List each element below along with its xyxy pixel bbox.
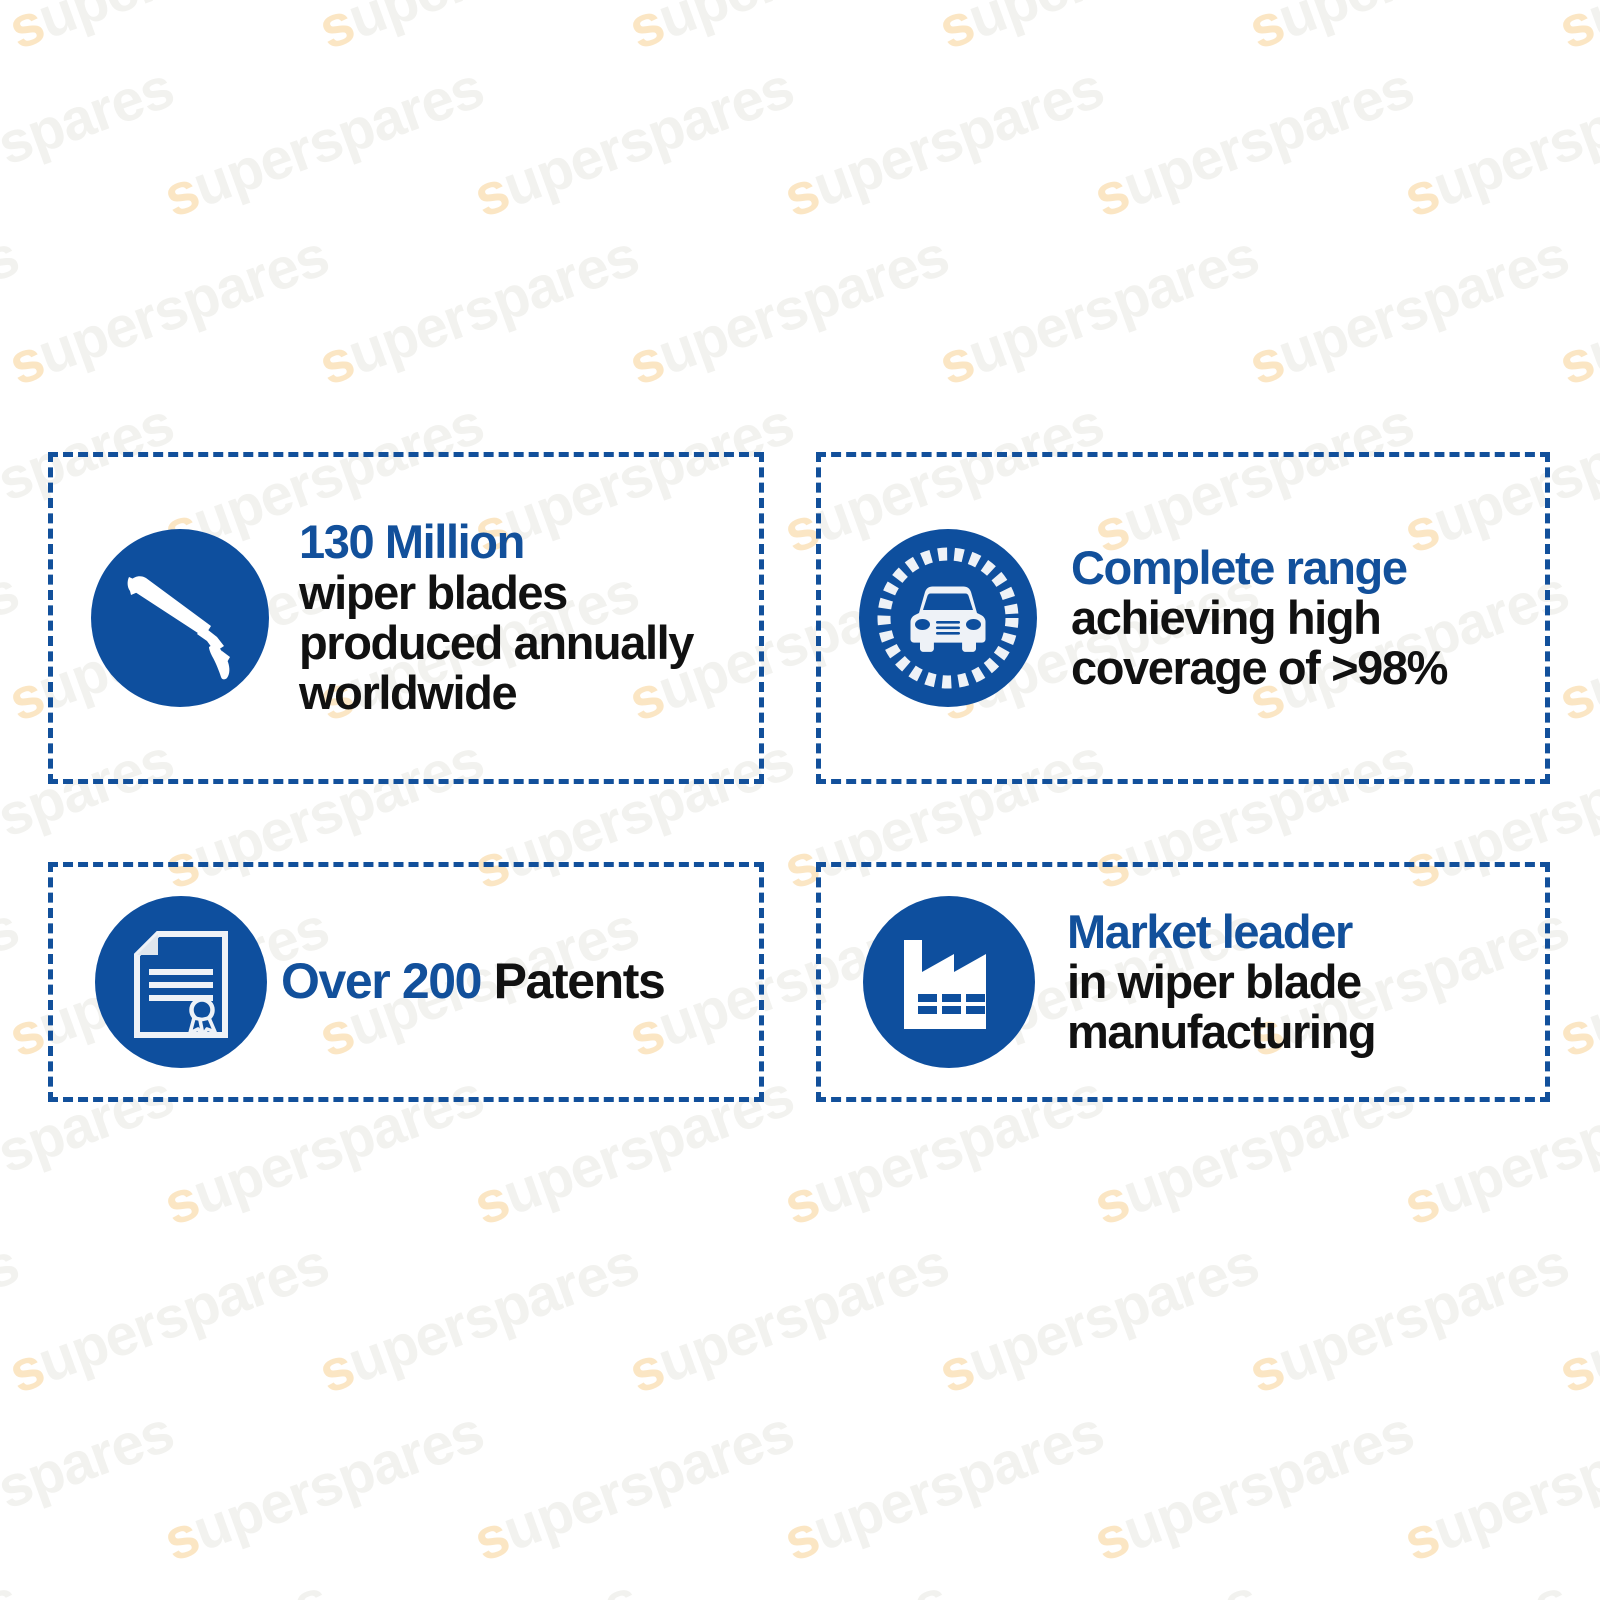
watermark-accent-letter: s — [0, 662, 52, 734]
fact-card-2-line-3: coverage of >98% — [1071, 643, 1545, 693]
watermark-text: superspares — [930, 0, 1267, 63]
watermark-rest: uperspares — [1425, 55, 1600, 220]
watermark-text: superspares — [620, 0, 957, 63]
watermark-rest: uperspares — [1580, 559, 1600, 724]
watermark-accent-letter: s — [1085, 1502, 1137, 1574]
watermark-text: superspares — [0, 1230, 337, 1407]
watermark-rest: uperspares — [960, 1567, 1267, 1600]
watermark-text: superspares — [465, 54, 802, 231]
watermark-text: superspares — [0, 0, 27, 63]
watermark-accent-letter: s — [0, 326, 52, 398]
watermark-rest: uperspares — [340, 1567, 647, 1600]
fact-card-4-line-3: manufacturing — [1067, 1007, 1545, 1057]
watermark-rest: uperspares — [0, 55, 181, 220]
watermark-text: superspares — [1550, 0, 1600, 63]
fact-card-2-line-1: Complete range — [1071, 543, 1545, 593]
watermark-text: superspares — [0, 1230, 27, 1407]
fact-card-1-line-4: worldwide — [299, 668, 759, 718]
watermark-text: superspares — [310, 222, 647, 399]
fact-card-wiper-production: 130 Million wiper blades produced annual… — [48, 452, 764, 784]
watermark-text: superspares — [0, 1398, 182, 1575]
factory-icon — [863, 896, 1035, 1068]
watermark-rest: uperspares — [495, 1399, 802, 1564]
fact-card-3-line-1: Over 200 Patents — [281, 955, 759, 1009]
watermark-accent-letter: s — [155, 1166, 207, 1238]
watermark-accent-letter: s — [0, 998, 52, 1070]
watermark-accent-letter: s — [310, 326, 362, 398]
watermark-text: superspares — [1550, 894, 1600, 1071]
watermark-text: superspares — [1240, 1230, 1577, 1407]
watermark-rest: uperspares — [340, 0, 647, 51]
fact-card-4-line-2: in wiper blade — [1067, 957, 1545, 1007]
watermark-rest: uperspares — [0, 559, 26, 724]
watermark-rest: uperspares — [1115, 55, 1422, 220]
watermark-rest: uperspares — [1580, 895, 1600, 1060]
fact-card-1-text: 130 Million wiper blades produced annual… — [285, 517, 759, 718]
watermark-accent-letter: s — [930, 0, 982, 62]
watermark-text: superspares — [930, 1230, 1267, 1407]
watermark-rest: uperspares — [650, 223, 957, 388]
watermark-text: superspares — [0, 1566, 337, 1600]
watermark-rest: uperspares — [0, 1399, 181, 1564]
fact-card-1-line-1: 130 Million — [299, 517, 759, 567]
watermark-text: superspares — [0, 0, 337, 63]
watermark-accent-letter: s — [310, 0, 362, 62]
wiper-blade-icon-wrap — [75, 529, 285, 707]
fact-card-coverage: Complete range achieving high coverage o… — [816, 452, 1550, 784]
watermark-rest: uperspares — [1580, 1567, 1600, 1600]
fact-card-3-text: Over 200 Patents — [281, 955, 759, 1009]
watermark-text: superspares — [775, 54, 1112, 231]
watermark-accent-letter: s — [465, 1502, 517, 1574]
car-in-dashed-ring-icon — [859, 529, 1037, 707]
fact-card-4-line-1: Market leader — [1067, 907, 1545, 957]
watermark-rest: uperspares — [0, 1567, 26, 1600]
watermark-text: superspares — [930, 222, 1267, 399]
watermark-accent-letter: s — [1240, 326, 1292, 398]
watermark-text: superspares — [1550, 1566, 1600, 1600]
watermark-accent-letter: s — [1395, 1502, 1447, 1574]
fact-card-market-leader: Market leader in wiper blade manufacturi… — [816, 862, 1550, 1102]
watermark-rest: uperspares — [1270, 1231, 1577, 1396]
watermark-rest: uperspares — [960, 223, 1267, 388]
watermark-rest: uperspares — [0, 0, 26, 51]
watermark-accent-letter: s — [1550, 0, 1600, 62]
watermark-accent-letter: s — [1240, 1334, 1292, 1406]
patents-label: Patents — [481, 953, 664, 1009]
watermark-text: superspares — [0, 558, 27, 735]
watermark-text: superspares — [1240, 222, 1577, 399]
wiper-blade-icon — [91, 529, 269, 707]
watermark-text: superspares — [930, 1566, 1267, 1600]
watermark-text: superspares — [310, 1230, 647, 1407]
watermark-text: superspares — [155, 1398, 492, 1575]
watermark-rest: uperspares — [1270, 223, 1577, 388]
watermark-accent-letter: s — [0, 0, 52, 62]
watermark-rest: uperspares — [1270, 1567, 1577, 1600]
watermark-text: superspares — [0, 1566, 27, 1600]
watermark-text: superspares — [1550, 1230, 1600, 1407]
watermark-rest: uperspares — [30, 223, 337, 388]
watermark-accent-letter: s — [1395, 1166, 1447, 1238]
watermark-accent-letter: s — [1550, 1334, 1600, 1406]
watermark-rest: uperspares — [650, 0, 957, 51]
watermark-accent-letter: s — [620, 326, 672, 398]
watermark-accent-letter: s — [0, 1334, 52, 1406]
watermark-rest: uperspares — [650, 1231, 957, 1396]
watermark-text: superspares — [1395, 1398, 1600, 1575]
watermark-text: superspares — [155, 54, 492, 231]
watermark-rest: uperspares — [1270, 0, 1577, 51]
factory-icon-wrap — [849, 896, 1049, 1068]
watermark-accent-letter: s — [465, 1166, 517, 1238]
watermark-rest: uperspares — [495, 55, 802, 220]
watermark-rest: uperspares — [960, 1231, 1267, 1396]
watermark-text: superspares — [0, 894, 27, 1071]
watermark-text: superspares — [1085, 54, 1422, 231]
watermark-accent-letter: s — [310, 1334, 362, 1406]
watermark-rest: uperspares — [1580, 0, 1600, 51]
watermark-rest: uperspares — [960, 0, 1267, 51]
watermark-accent-letter: s — [1240, 0, 1292, 62]
certificate-document-icon — [95, 896, 267, 1068]
watermark-accent-letter: s — [930, 1334, 982, 1406]
watermark-text: superspares — [465, 1398, 802, 1575]
fact-card-1-line-3: produced annually — [299, 618, 759, 668]
watermark-rest: uperspares — [0, 895, 26, 1060]
fact-card-4-text: Market leader in wiper blade manufacturi… — [1049, 907, 1545, 1058]
watermark-rest: uperspares — [340, 223, 647, 388]
watermark-accent-letter: s — [155, 158, 207, 230]
car-icon-wrap — [843, 529, 1053, 707]
watermark-rest: uperspares — [0, 1231, 26, 1396]
watermark-text: superspares — [620, 222, 957, 399]
watermark-accent-letter: s — [1550, 326, 1600, 398]
infographic-canvas: supersparessupersparessupersparessupersp… — [0, 0, 1600, 1600]
watermark-accent-letter: s — [1085, 158, 1137, 230]
watermark-rest: uperspares — [185, 1399, 492, 1564]
watermark-accent-letter: s — [465, 158, 517, 230]
watermark-accent-letter: s — [155, 1502, 207, 1574]
fact-card-1-line-2: wiper blades — [299, 568, 759, 618]
watermark-text: superspares — [1085, 1398, 1422, 1575]
watermark-rest: uperspares — [1425, 1399, 1600, 1564]
watermark-layer: supersparessupersparessupersparessupersp… — [0, 0, 1600, 1600]
watermark-accent-letter: s — [775, 1166, 827, 1238]
watermark-accent-letter: s — [1395, 158, 1447, 230]
fact-card-2-text: Complete range achieving high coverage o… — [1053, 543, 1545, 694]
watermark-text: superspares — [1395, 54, 1600, 231]
watermark-accent-letter: s — [775, 158, 827, 230]
watermark-rest: uperspares — [30, 0, 337, 51]
watermark-rest: uperspares — [0, 223, 26, 388]
watermark-text: superspares — [1240, 0, 1577, 63]
patents-count-accent: Over 200 — [281, 953, 481, 1009]
watermark-rest: uperspares — [185, 55, 492, 220]
watermark-text: superspares — [0, 54, 182, 231]
watermark-text: superspares — [620, 1566, 957, 1600]
watermark-rest: uperspares — [340, 1231, 647, 1396]
watermark-text: superspares — [0, 222, 337, 399]
watermark-accent-letter: s — [775, 1502, 827, 1574]
watermark-accent-letter: s — [1085, 1166, 1137, 1238]
watermark-rest: uperspares — [1580, 223, 1600, 388]
watermark-accent-letter: s — [620, 0, 672, 62]
watermark-accent-letter: s — [620, 1334, 672, 1406]
watermark-text: superspares — [1550, 222, 1600, 399]
watermark-text: superspares — [1550, 558, 1600, 735]
certificate-icon-wrap — [81, 896, 281, 1068]
fact-card-patents: Over 200 Patents — [48, 862, 764, 1102]
watermark-rest: uperspares — [30, 1231, 337, 1396]
fact-card-2-line-2: achieving high — [1071, 593, 1545, 643]
watermark-text: superspares — [620, 1230, 957, 1407]
watermark-rest: uperspares — [650, 1567, 957, 1600]
watermark-text: superspares — [310, 1566, 647, 1600]
watermark-accent-letter: s — [1550, 662, 1600, 734]
watermark-text: superspares — [310, 0, 647, 63]
watermark-rest: uperspares — [30, 1567, 337, 1600]
watermark-rest: uperspares — [805, 55, 1112, 220]
watermark-rest: uperspares — [805, 1399, 1112, 1564]
watermark-text: superspares — [0, 222, 27, 399]
watermark-accent-letter: s — [930, 326, 982, 398]
watermark-rest: uperspares — [1115, 1399, 1422, 1564]
watermark-text: superspares — [1240, 1566, 1577, 1600]
watermark-rest: uperspares — [1580, 1231, 1600, 1396]
watermark-text: superspares — [775, 1398, 1112, 1575]
watermark-accent-letter: s — [1550, 998, 1600, 1070]
